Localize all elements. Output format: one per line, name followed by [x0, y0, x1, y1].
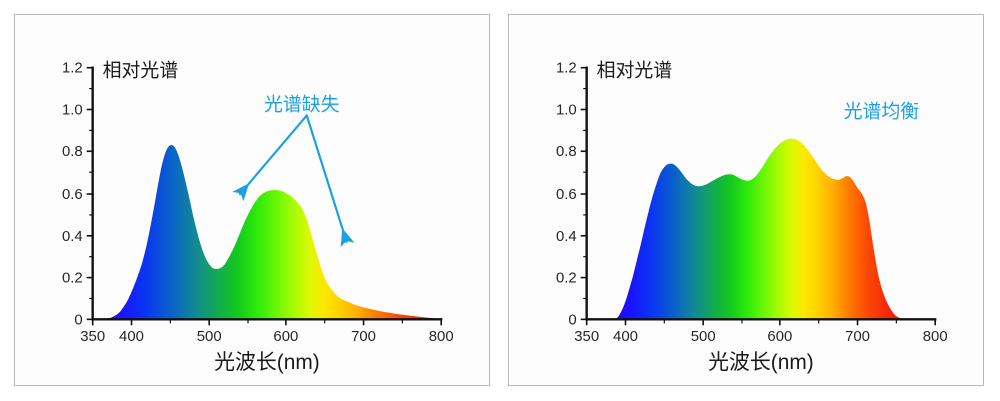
x-tick-label-400: 400	[613, 328, 638, 345]
chart-spectrum-deficient: 1.2 1.0 0.8 0.6 0.4 0.2 0	[15, 15, 489, 385]
x-tick-label-600: 600	[273, 328, 298, 345]
y-tick-label-1-2: 1.2	[556, 60, 577, 77]
x-tick-label-800: 800	[429, 328, 454, 345]
y-tick-label-1-0: 1.0	[556, 101, 577, 118]
x-tick-label-350: 350	[574, 328, 599, 345]
annotation-arrow-left	[240, 115, 307, 194]
y-tick-label-0-4: 0.4	[556, 228, 577, 245]
y-axis: 1.2 1.0 0.8 0.6 0.4 0.2 0	[556, 60, 587, 329]
x-axis-title: 光波长(nm)	[708, 351, 814, 374]
y-axis: 1.2 1.0 0.8 0.6 0.4 0.2 0	[62, 60, 93, 329]
x-tick-label-500: 500	[197, 328, 222, 345]
annotation-arrow-right	[307, 115, 347, 241]
x-tick-label-800: 800	[923, 328, 948, 345]
annotation-label: 光谱均衡	[844, 100, 920, 122]
annotation-label: 光谱缺失	[264, 93, 340, 115]
x-axis: 350 400 500 600 700 800	[574, 319, 947, 345]
y-tick-label-0-8: 0.8	[62, 143, 83, 160]
y-tick-label-0: 0	[74, 311, 82, 328]
annotation-spectrum-balanced: 光谱均衡	[844, 100, 920, 122]
x-tick-label-500: 500	[691, 328, 716, 345]
x-tick-label-700: 700	[845, 328, 870, 345]
panel-spectrum-deficient: 1.2 1.0 0.8 0.6 0.4 0.2 0	[14, 14, 490, 386]
y-tick-label-0-2: 0.2	[556, 270, 577, 287]
spectrum-curve-area	[93, 145, 442, 319]
plot-title: 相对光谱	[103, 60, 179, 82]
y-tick-label-0: 0	[568, 311, 576, 328]
x-tick-label-400: 400	[119, 328, 144, 345]
plot-title: 相对光谱	[597, 60, 673, 82]
y-tick-label-0-8: 0.8	[556, 143, 577, 160]
x-tick-label-600: 600	[767, 328, 792, 345]
y-tick-label-0-6: 0.6	[62, 186, 83, 203]
y-tick-label-0-6: 0.6	[556, 186, 577, 203]
spectrum-curve-area	[587, 139, 936, 320]
y-tick-label-0-2: 0.2	[62, 270, 83, 287]
x-axis: 350 400 500 600 700 800	[80, 319, 453, 345]
panel-spectrum-balanced: 1.2 1.0 0.8 0.6 0.4 0.2 0	[508, 14, 984, 386]
x-axis-title: 光波长(nm)	[214, 351, 320, 374]
y-tick-label-1-2: 1.2	[62, 60, 83, 77]
chart-spectrum-balanced: 1.2 1.0 0.8 0.6 0.4 0.2 0	[509, 15, 983, 385]
y-tick-label-0-4: 0.4	[62, 228, 83, 245]
y-tick-label-1-0: 1.0	[62, 101, 83, 118]
x-tick-label-350: 350	[80, 328, 105, 345]
spectrum-comparison-figure: 1.2 1.0 0.8 0.6 0.4 0.2 0	[0, 0, 1000, 401]
x-tick-label-700: 700	[351, 328, 376, 345]
